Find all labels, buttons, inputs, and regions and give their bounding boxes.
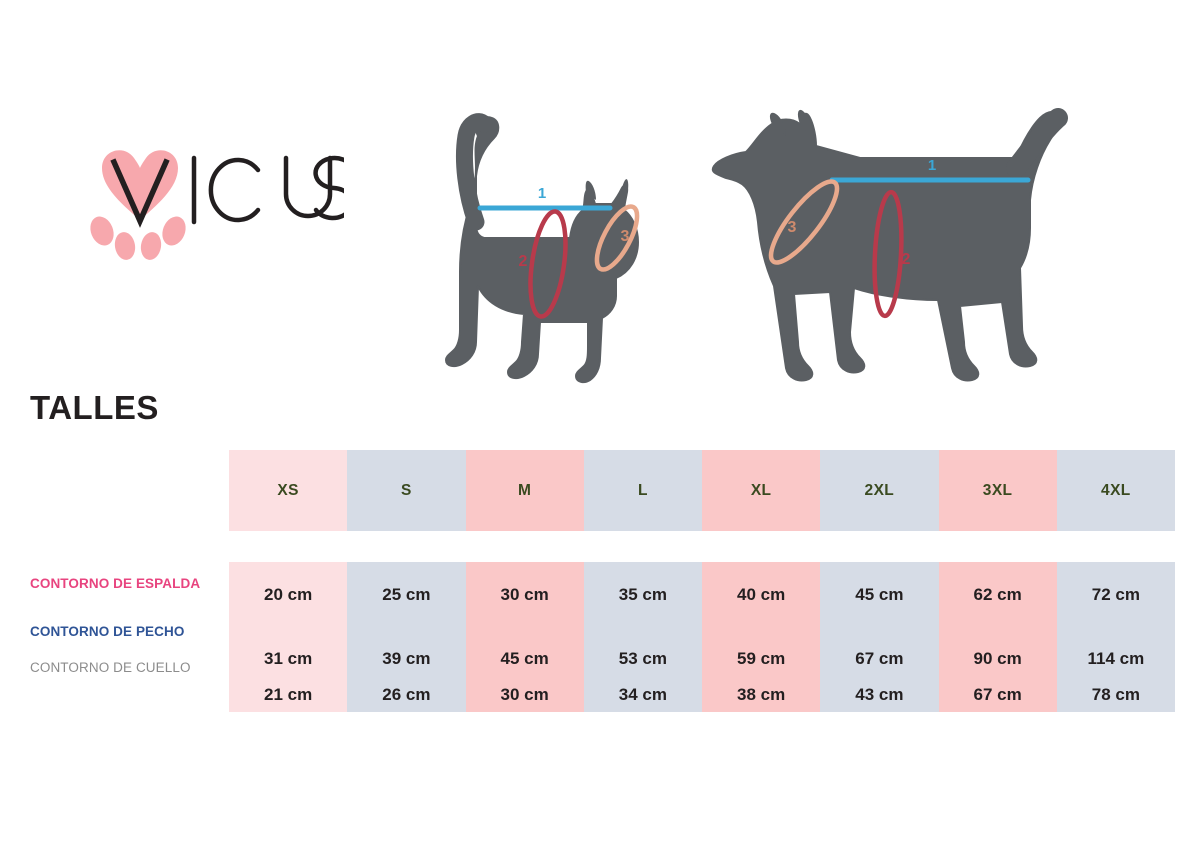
svg-text:3: 3 [788, 219, 797, 236]
wordmark-icus [194, 158, 344, 222]
svg-text:3: 3 [621, 228, 630, 245]
paw-pad-2 [113, 230, 138, 261]
cell-m-row2: 45 cm [466, 644, 584, 680]
cell-xs-row3: 21 cm [229, 680, 347, 714]
cell-m-row1: 30 cm [466, 580, 584, 628]
table-row: 31 cm39 cm45 cm53 cm59 cm67 cm90 cm114 c… [229, 628, 1175, 680]
cell-s-row2: 39 cm [347, 644, 465, 680]
size-column-header-3xl[interactable]: 3XL [939, 450, 1057, 531]
cell-2xl-row3: 43 cm [820, 680, 938, 714]
page-title: TALLES [30, 389, 159, 427]
cell-s-row1: 25 cm [347, 580, 465, 628]
cell-2xl-row1: 45 cm [820, 580, 938, 628]
data-rows: 20 cm25 cm30 cm35 cm40 cm45 cm62 cm72 cm… [229, 562, 1175, 712]
size-column-header-l[interactable]: L [584, 450, 702, 531]
heart-paw-logo-icon [44, 136, 344, 266]
cell-l-row3: 34 cm [584, 680, 702, 714]
table-row: 20 cm25 cm30 cm35 cm40 cm45 cm62 cm72 cm [229, 562, 1175, 628]
paw-pad-3 [139, 230, 164, 261]
cell-xl-row1: 40 cm [702, 580, 820, 628]
row-label-contorno-de-cuello: CONTORNO DE CUELLO [30, 660, 191, 675]
cell-3xl-row1: 62 cm [939, 580, 1057, 628]
row-label-contorno-de-pecho: CONTORNO DE PECHO [30, 624, 184, 639]
paw-pad-1 [86, 213, 118, 249]
size-chart-table: XSSMLXL2XL3XL4XL 20 cm25 cm30 cm35 cm40 … [229, 450, 1175, 712]
size-table-header-row: XSSMLXL2XL3XL4XL [229, 450, 1175, 531]
table-row: 21 cm26 cm30 cm34 cm38 cm43 cm67 cm78 cm [229, 680, 1175, 714]
table-gap [229, 531, 1175, 562]
svg-text:2: 2 [519, 253, 528, 270]
cell-xl-row2: 59 cm [702, 644, 820, 680]
row-label-contorno-de-espalda: CONTORNO DE ESPALDA [30, 576, 200, 591]
size-column-header-m[interactable]: M [466, 450, 584, 531]
cat-silhouette-icon: 1 2 3 [446, 117, 645, 382]
size-column-header-xs[interactable]: XS [229, 450, 347, 531]
paw-pad-4 [158, 213, 190, 249]
svg-text:1: 1 [538, 185, 546, 202]
svg-text:2: 2 [902, 251, 911, 268]
dog-silhouette-icon: 1 2 3 [713, 110, 1061, 381]
size-column-header-s[interactable]: S [347, 450, 465, 531]
brand-logo [44, 136, 344, 266]
cell-l-row1: 35 cm [584, 580, 702, 628]
pet-measurement-illustrations: 1 2 3 1 [420, 96, 1160, 426]
cell-s-row3: 26 cm [347, 680, 465, 714]
svg-text:1: 1 [928, 157, 936, 174]
cell-4xl-row3: 78 cm [1057, 680, 1175, 714]
cell-2xl-row2: 67 cm [820, 644, 938, 680]
cell-m-row3: 30 cm [466, 680, 584, 714]
size-column-header-4xl[interactable]: 4XL [1057, 450, 1175, 531]
size-column-header-xl[interactable]: XL [702, 450, 820, 531]
cell-3xl-row2: 90 cm [939, 644, 1057, 680]
cell-xs-row1: 20 cm [229, 580, 347, 628]
cell-xl-row3: 38 cm [702, 680, 820, 714]
cell-l-row2: 53 cm [584, 644, 702, 680]
size-table-body: 20 cm25 cm30 cm35 cm40 cm45 cm62 cm72 cm… [229, 562, 1175, 712]
cell-3xl-row3: 67 cm [939, 680, 1057, 714]
cell-4xl-row1: 72 cm [1057, 580, 1175, 628]
cell-xs-row2: 31 cm [229, 644, 347, 680]
size-column-header-2xl[interactable]: 2XL [820, 450, 938, 531]
cell-4xl-row2: 114 cm [1057, 644, 1175, 680]
